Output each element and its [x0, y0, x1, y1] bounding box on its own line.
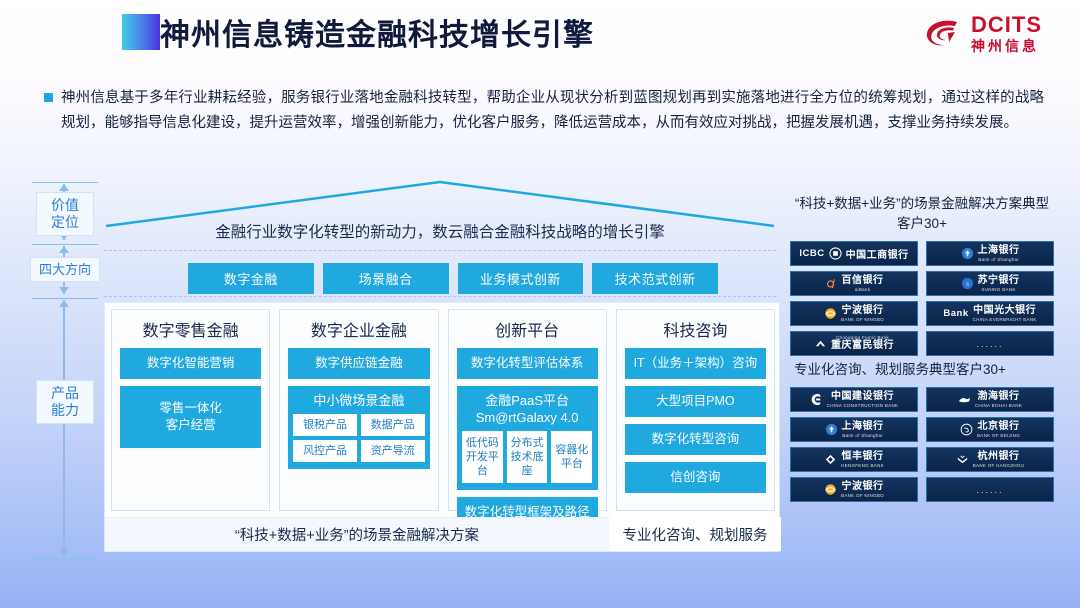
logo-en: Bank of Shanghai — [978, 257, 1018, 262]
logo-stack: Chongqing Fumin Bank 重庆富民银行 — [831, 335, 894, 352]
logo-stack: 上海银行 Bank of Shanghai — [978, 245, 1020, 262]
logo-stack: 渤海银行 CHINA BOHAI BANK — [975, 391, 1022, 408]
column-title: 创新平台 — [495, 317, 559, 341]
title-accent-bar — [122, 14, 160, 50]
logo-en: BANK OF NINGBO — [841, 317, 884, 322]
shanghai-bank-mark-icon — [961, 247, 974, 260]
logo-stack: 北京银行 BANK OF BEIJING — [977, 421, 1020, 438]
subtile-grid: 低代码开发平台 分布式技术底座 容器化平台 — [462, 431, 593, 483]
ellipsis-label: ...... — [976, 339, 1003, 349]
product-tile[interactable]: 数字供应链金融 — [288, 348, 429, 379]
footer-label-solution: “科技+数据+业务”的场景金融解决方案 — [105, 517, 609, 551]
dcits-swirl-logo-icon — [924, 16, 964, 52]
logo-prefix: ICBC — [799, 248, 824, 259]
logo-en: HENGFENG BANK — [841, 463, 884, 468]
axis-label-product-capability: 产品 能力 — [36, 380, 94, 424]
suning-bank-mark-icon: S — [961, 277, 974, 290]
customer-logo-cell[interactable]: 北京银行 BANK OF BEIJING — [926, 417, 1054, 442]
subtile[interactable]: 银税产品 — [293, 414, 357, 436]
logo-en: CHINA BOHAI BANK — [975, 403, 1022, 408]
column-title: 数字零售金融 — [143, 317, 239, 341]
logo-cn: 上海银行 — [978, 245, 1020, 257]
divider-dashed — [104, 296, 776, 297]
logo-cn: 渤海银行 — [978, 391, 1020, 403]
subtile[interactable]: 分布式技术底座 — [507, 431, 548, 483]
product-tile-group[interactable]: 金融PaaS平台 Sm@rtGalaxy 4.0 低代码开发平台 分布式技术底座… — [457, 386, 598, 490]
page-title: 神州信息铸造金融科技增长引擎 — [160, 10, 594, 54]
logo-cn: 神州信息 — [971, 39, 1042, 53]
ningbo-bank-mark-icon — [824, 307, 837, 320]
customer-logos-panel: “科技+数据+业务”的场景金融解决方案典型客户30+ ICBC 中国工商银行 上… — [790, 190, 1054, 502]
logo-cn: 中国光大银行 — [973, 305, 1036, 317]
svg-text:S: S — [965, 282, 968, 287]
logo-cn: 上海银行 — [842, 421, 884, 433]
logo-en: CHINA EVERBRIGHT BANK — [973, 317, 1037, 322]
group-title: 中小微场景金融 — [293, 392, 424, 409]
product-column-consulting: 科技咨询 IT（业务＋架构）咨询 大型项目PMO 数字化转型咨询 信创咨询 — [616, 309, 775, 511]
axis-rule — [32, 244, 98, 245]
logo-en: DCITS — [971, 14, 1042, 36]
column-title: 数字企业金融 — [311, 317, 407, 341]
product-tile[interactable]: 零售一体化 客户经营 — [120, 386, 261, 448]
product-tile[interactable]: 数字化转型评估体系 — [457, 348, 598, 379]
customer-logo-grid-1: ICBC 中国工商银行 上海银行 Bank of Shanghai 百信银行 a… — [790, 241, 1054, 356]
direction-pill[interactable]: 数字金融 — [188, 263, 314, 294]
logo-stack: 苏宁银行 SUNING BANK — [978, 275, 1020, 292]
subtile[interactable]: 低代码开发平台 — [462, 431, 503, 483]
logo-cn: 宁波银行 — [842, 481, 884, 493]
customer-logo-cell-more[interactable]: ...... — [926, 331, 1054, 356]
logo-stack: 中国光大银行 CHINA EVERBRIGHT BANK — [973, 305, 1037, 322]
product-column-enterprise: 数字企业金融 数字供应链金融 中小微场景金融 银税产品 数据产品 风控产品 资产… — [279, 309, 438, 511]
product-tile[interactable]: 数字化智能营销 — [120, 348, 261, 379]
logo-stack: 杭州银行 BANK OF HANGZHOU — [973, 451, 1025, 468]
product-tile-group[interactable]: 中小微场景金融 银税产品 数据产品 风控产品 资产导流 — [288, 386, 429, 469]
product-columns: 数字零售金融 数字化智能营销 零售一体化 客户经营 数字企业金融 数字供应链金融… — [105, 303, 781, 517]
fumin-bank-mark-icon — [814, 337, 827, 350]
logo-stack: 宁波银行 BANK OF NINGBO — [841, 305, 884, 322]
logo-en: Chongqing Fumin Bank — [836, 335, 889, 340]
logo-en: CHINA CONSTRUCTION BANK — [827, 403, 899, 408]
aibank-mark-icon — [825, 277, 838, 290]
page-header: 神州信息铸造金融科技增长引擎 DCITS 神州信息 — [0, 0, 1080, 72]
logo-cn: 杭州银行 — [978, 451, 1020, 463]
axis-label-value-position: 价值 定位 — [36, 192, 94, 236]
product-column-innovation: 创新平台 数字化转型评估体系 金融PaaS平台 Sm@rtGalaxy 4.0 … — [448, 309, 607, 511]
customer-logo-cell[interactable]: 中国建设银行 CHINA CONSTRUCTION BANK — [790, 387, 918, 412]
product-tile[interactable]: IT（业务＋架构）咨询 — [625, 348, 766, 379]
ningbo-bank-mark-icon — [824, 483, 837, 496]
logo-stack: 上海银行 Bank of Shanghai — [842, 421, 884, 438]
subtile[interactable]: 资产导流 — [361, 440, 425, 462]
left-axis: 价值 定位 四大方向 产品 能力 — [30, 182, 100, 560]
logo-text: DCITS 神州信息 — [971, 14, 1042, 53]
customer-logo-cell[interactable]: 恒丰银行 HENGFENG BANK — [790, 447, 918, 472]
logo-cn: 苏宁银行 — [978, 275, 1020, 287]
direction-pill[interactable]: 场景融合 — [323, 263, 449, 294]
roof-shape: 金融行业数字化转型的新动力，数云融合金融科技战略的增长引擎 — [104, 178, 776, 244]
direction-pill[interactable]: 技术范式创新 — [592, 263, 718, 294]
product-tile[interactable]: 大型项目PMO — [625, 386, 766, 417]
subtile-grid: 银税产品 数据产品 风控产品 资产导流 — [293, 414, 424, 462]
axis-rule — [32, 182, 98, 183]
square-bullet-icon — [44, 93, 53, 102]
subtile[interactable]: 容器化平台 — [551, 431, 592, 483]
customers-heading-consulting: 专业化咨询、规划服务典型客户30+ — [790, 356, 1054, 387]
ellipsis-label: ...... — [976, 485, 1003, 495]
footer-label-consulting: 专业化咨询、规划服务 — [609, 517, 781, 551]
divider-dashed — [104, 250, 776, 251]
direction-pill[interactable]: 业务模式创新 — [458, 263, 584, 294]
product-tile[interactable]: 数字化转型咨询 — [625, 424, 766, 455]
customer-logo-grid-2: 中国建设银行 CHINA CONSTRUCTION BANK 渤海银行 CHIN… — [790, 387, 1054, 502]
logo-en: Bank of Shanghai — [842, 433, 882, 438]
customer-logo-cell[interactable]: ICBC 中国工商银行 — [790, 241, 918, 266]
column-title: 科技咨询 — [663, 317, 727, 341]
logo-stack: 中国建设银行 CHINA CONSTRUCTION BANK — [827, 391, 899, 408]
product-tile[interactable]: 信创咨询 — [625, 462, 766, 493]
logo-cn: 中国工商银行 — [846, 246, 909, 261]
logo-cn: 中国建设银行 — [831, 391, 894, 403]
customer-logo-cell[interactable]: 上海银行 Bank of Shanghai — [926, 241, 1054, 266]
subtile[interactable]: 风控产品 — [293, 440, 357, 462]
product-column-retail: 数字零售金融 数字化智能营销 零售一体化 客户经营 — [111, 309, 270, 511]
logo-en: aiBank — [855, 287, 871, 292]
logo-en: BANK OF BEIJING — [977, 433, 1020, 438]
axis-rule — [32, 298, 98, 299]
logo-prefix: Bank — [943, 308, 968, 319]
logo-cn: 宁波银行 — [842, 305, 884, 317]
bohai-bank-mark-icon — [958, 393, 971, 406]
customer-logo-cell[interactable]: 渤海银行 CHINA BOHAI BANK — [926, 387, 1054, 412]
icbc-mark-icon — [829, 247, 842, 260]
shanghai-bank-mark-icon — [825, 423, 838, 436]
customer-logo-cell[interactable]: 杭州银行 BANK OF HANGZHOU — [926, 447, 1054, 472]
customer-logo-cell[interactable]: 百信银行 aiBank — [790, 271, 918, 296]
axis-rule — [32, 558, 98, 559]
beijing-bank-mark-icon — [960, 423, 973, 436]
customer-logo-cell-more[interactable]: ...... — [926, 477, 1054, 502]
customer-logo-cell[interactable]: S 苏宁银行 SUNING BANK — [926, 271, 1054, 296]
logo-en: SUNING BANK — [981, 287, 1015, 292]
hengfeng-bank-mark-icon — [824, 453, 837, 466]
ccb-mark-icon — [810, 393, 823, 406]
customer-logo-cell[interactable]: 宁波银行 BANK OF NINGBO — [790, 477, 918, 502]
logo-cn: 恒丰银行 — [842, 451, 884, 463]
direction-pills: 数字金融 场景融合 业务模式创新 技术范式创新 — [188, 263, 718, 294]
roof-tagline: 金融行业数字化转型的新动力，数云融合金融科技战略的增长引擎 — [104, 220, 776, 242]
axis-label-four-directions: 四大方向 — [30, 257, 100, 282]
logo-cn: 百信银行 — [842, 275, 884, 287]
product-capability-panel: 数字零售金融 数字化智能营销 零售一体化 客户经营 数字企业金融 数字供应链金融… — [104, 302, 780, 552]
logo-cn: 重庆富民银行 — [831, 340, 894, 352]
customer-logo-cell[interactable]: 宁波银行 BANK OF NINGBO — [790, 301, 918, 326]
logo-stack: 恒丰银行 HENGFENG BANK — [841, 451, 884, 468]
customer-logo-cell[interactable]: Bank 中国光大银行 CHINA EVERBRIGHT BANK — [926, 301, 1054, 326]
brand-logo: DCITS 神州信息 — [924, 14, 1042, 53]
group-title: 金融PaaS平台 Sm@rtGalaxy 4.0 — [462, 392, 593, 426]
customer-logo-cell[interactable]: 上海银行 Bank of Shanghai — [790, 417, 918, 442]
logo-stack: 百信银行 aiBank — [842, 275, 884, 292]
axis-arrow — [63, 300, 65, 556]
intro-text: 神州信息基于多年行业耕耘经验，服务银行业落地金融科技转型，帮助企业从现状分析到蓝… — [61, 86, 1044, 136]
logo-en: BANK OF HANGZHOU — [973, 463, 1025, 468]
logo-stack: 宁波银行 BANK OF NINGBO — [841, 481, 884, 498]
customer-logo-cell[interactable]: Chongqing Fumin Bank 重庆富民银行 — [790, 331, 918, 356]
subtile[interactable]: 数据产品 — [361, 414, 425, 436]
logo-en: BANK OF NINGBO — [841, 493, 884, 498]
hangzhou-bank-mark-icon — [956, 453, 969, 466]
logo-cn: 北京银行 — [977, 421, 1019, 433]
customers-heading-solution: “科技+数据+业务”的场景金融解决方案典型客户30+ — [790, 190, 1054, 241]
product-footers: “科技+数据+业务”的场景金融解决方案 专业化咨询、规划服务 — [105, 517, 781, 551]
intro-paragraph: 神州信息基于多年行业耕耘经验，服务银行业落地金融科技转型，帮助企业从现状分析到蓝… — [44, 86, 1044, 136]
